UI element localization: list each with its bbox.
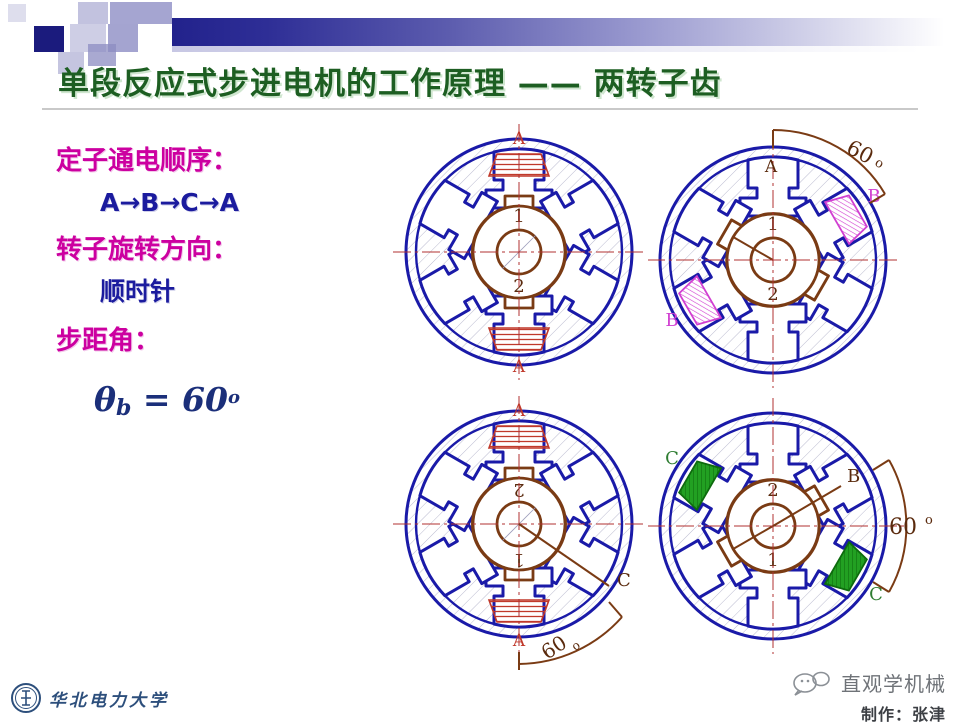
deco-square bbox=[78, 2, 108, 24]
label-rotation-direction: 转子旋转方向： bbox=[56, 237, 386, 263]
university-emblem-icon bbox=[10, 682, 42, 714]
motor-diagram-grid: 1 2 A A bbox=[380, 116, 960, 676]
angle-value-60: 60 bbox=[843, 135, 878, 169]
angle-unit-degree: o bbox=[872, 155, 886, 172]
diagram-a-again: 1 2 A A bbox=[390, 394, 660, 680]
coil-label-bottom-a: A bbox=[512, 631, 526, 651]
coil-label-c-upper: C bbox=[665, 448, 679, 469]
formula-degree: o bbox=[228, 387, 240, 408]
formula-subscript: b bbox=[116, 395, 131, 421]
coil-label-bottom-a: A bbox=[512, 357, 526, 377]
diagram-a-energized: 1 2 A A bbox=[390, 116, 648, 392]
watermark-text: 直观学机械 bbox=[841, 668, 946, 697]
deco-square bbox=[36, 4, 70, 20]
header-accent-bar bbox=[172, 18, 960, 46]
formula-theta: θ bbox=[94, 380, 116, 419]
watermark: 直观学机械 制作：张津 bbox=[791, 668, 946, 725]
step-angle-formula: θb = 60o bbox=[94, 380, 386, 421]
deco-square bbox=[110, 2, 172, 24]
university-name: 华北电力大学 bbox=[49, 686, 169, 711]
coil-label-top-a: A bbox=[512, 129, 526, 149]
explanation-panel: 定子通电顺序： A→B→C→A 转子旋转方向： 顺时针 步距角： θb = 60… bbox=[56, 148, 386, 421]
pole-label-b: B bbox=[847, 466, 860, 487]
page-title: 单段反应式步进电机的工作原理 —— 两转子齿 bbox=[58, 58, 938, 104]
angle-value-60: 60 bbox=[889, 515, 917, 540]
university-logo: 华北电力大学 bbox=[10, 682, 169, 714]
pole-label-c: C bbox=[617, 570, 631, 591]
label-step-angle: 步距角： bbox=[56, 328, 386, 354]
angle-unit-degree: o bbox=[569, 638, 583, 654]
formula-equation: = 60 bbox=[131, 380, 228, 419]
angle-unit-degree: o bbox=[925, 513, 933, 528]
author-credit: 制作：张津 bbox=[791, 701, 946, 725]
diagram-c-energized: 2 1 C C bbox=[648, 394, 948, 680]
coil-label-b-upper: B bbox=[867, 186, 880, 207]
coil-label-b-lower: B bbox=[665, 310, 678, 331]
deco-square bbox=[8, 4, 26, 22]
value-rotation-direction: 顺时针 bbox=[100, 279, 386, 304]
speech-bubble-icon bbox=[791, 670, 833, 696]
diagram-b-energized: 1 2 A B B bbox=[648, 116, 948, 392]
coil-label-top-a: A bbox=[512, 401, 526, 421]
label-energize-sequence: 定子通电顺序： bbox=[56, 148, 386, 174]
header-accent-bar-shadow bbox=[172, 46, 960, 52]
deco-square-dark bbox=[34, 26, 64, 52]
value-energize-sequence: A→B→C→A bbox=[100, 190, 386, 215]
title-divider bbox=[42, 108, 918, 110]
pole-label-a: A bbox=[764, 157, 778, 177]
